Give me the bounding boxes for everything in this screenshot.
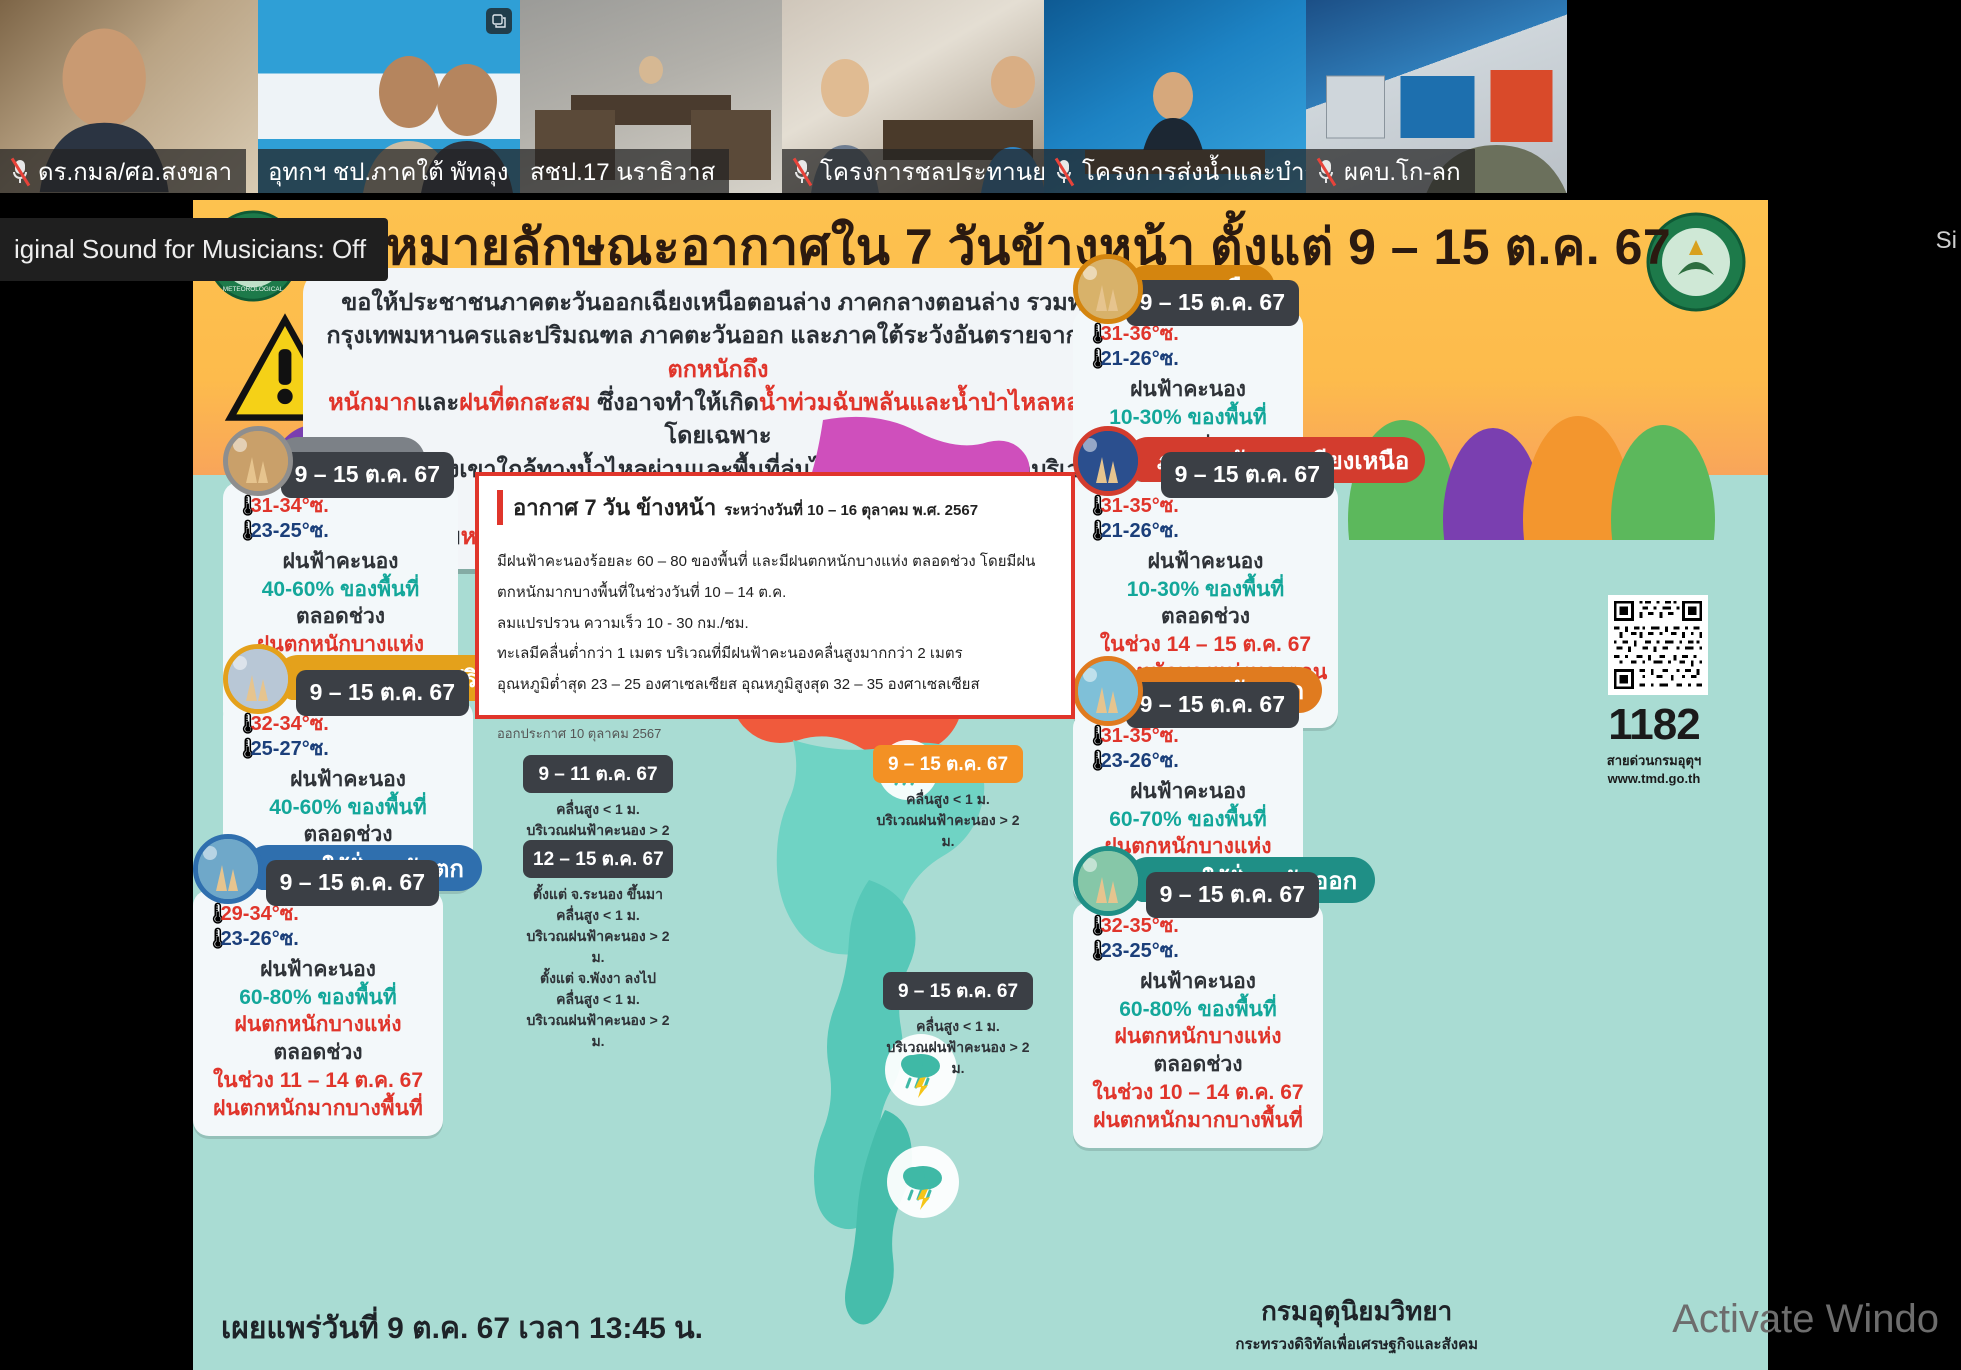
forecast-line-2: ทะเลมีคลื่นต่ำกว่า 1 เมตร บริเวณที่มีฝนฟ… [497, 639, 1053, 670]
thermometer-cold-icon: 🌡 [235, 737, 245, 762]
sea-callout-line-1: บริเวณฝนฟ้าคะนอง > 2 ม. [883, 1037, 1033, 1079]
participant-name: ดร.กมล/ศอ.สงขลา [38, 152, 232, 191]
sea-callout-line-3: ตั้งแต่ จ.พังงา ลงไป [523, 968, 673, 989]
participant-name: ผคบ.โก-ลก [1344, 152, 1461, 191]
region-detail-line-0: ฝนฟ้าคะนอง [233, 766, 463, 794]
sea-callout-date: 9 – 15 ต.ค. 67 [883, 972, 1033, 1010]
sea-callout-line-2: บริเวณฝนฟ้าคะนอง > 2 ม. [523, 926, 673, 968]
region-detail-line-5: ฝนตกหนักมากบางพื้นที่ [203, 1095, 433, 1123]
video-tile-2[interactable]: สชป.17 นราธิวาส [520, 0, 782, 193]
warn-line2: กรุงเทพมหานครและปริมณฑล ภาคตะวันออก และภ… [326, 322, 1079, 348]
original-sound-tooltip: iginal Sound for Musicians: Off [0, 218, 388, 281]
region-detail-line-1: 60-70% ของพื้นที่ [1083, 806, 1293, 834]
forecast-line-3: อุณหภูมิต่ำสุด 23 – 25 องศาเซลเซียส อุณห… [497, 670, 1053, 701]
hotline-url: www.tmd.go.th [1574, 771, 1734, 786]
temp-min: 🌡 21-26°ซ. [1085, 347, 1293, 372]
region-date-range: 9 – 15 ต.ค. 67 [1146, 872, 1319, 918]
region-date-range: 9 – 15 ต.ค. 67 [1161, 452, 1334, 498]
forecast-subtitle: ระหว่างวันที่ 10 – 16 ตุลาคม พ.ศ. 2567 [724, 498, 978, 522]
region-detail-line-1: 60-80% ของพื้นที่ [1083, 996, 1313, 1024]
sea-callout-line-0: ตั้งแต่ จ.ระนอง ขึ้นมา [523, 884, 673, 905]
region-detail-line-4: ในช่วง 11 – 14 ต.ค. 67 [203, 1067, 433, 1095]
thermometer-hot-icon: 🌡 [205, 902, 215, 927]
thermometer-hot-icon: 🌡 [1085, 724, 1095, 749]
region-detail-line-2: ฝนตกหนักบางแห่ง [203, 1011, 433, 1039]
region-detail-line-2: ตลอดช่วง [233, 603, 448, 631]
region-date-range: 9 – 15 ต.ค. 67 [296, 670, 469, 716]
thermometer-hot-icon: 🌡 [1085, 322, 1095, 347]
warn-line3-red1: หนักมาก [328, 389, 417, 415]
temp-min: 🌡 23-26°ซ. [205, 927, 433, 952]
temp-min: 🌡 25-27°ซ. [235, 737, 463, 762]
region-temperatures: 🌡 31-35°ซ.🌡 21-26°ซ. [1083, 494, 1328, 544]
participant-name-label: โครงการชลประทานยะลา [782, 149, 1044, 193]
mic-muted-icon [1316, 158, 1336, 184]
region-temperatures: 🌡 32-35°ซ.🌡 23-25°ซ. [1083, 914, 1313, 964]
participant-name-label: อุทกฯ ชป.ภาคใต้ พัทลุง [258, 149, 520, 193]
mic-muted-icon [1054, 158, 1074, 184]
warn-line3-red2: ฝนที่ตกสะสม [459, 389, 591, 415]
thermometer-hot-icon: 🌡 [1085, 494, 1095, 519]
sea-callout-lines: คลื่นสูง < 1 ม.บริเวณฝนฟ้าคะนอง > 2 ม. [883, 1016, 1033, 1079]
region-detail-lines: ฝนฟ้าคะนอง60-80% ของพื้นที่ฝนตกหนักบางแห… [1083, 968, 1313, 1134]
video-tile-1[interactable]: อุทกฯ ชป.ภาคใต้ พัทลุง [258, 0, 520, 193]
region-photo-icon [193, 834, 263, 904]
thermometer-cold-icon: 🌡 [1085, 749, 1095, 774]
department-footer: กรมอุตุนิยมวิทยา กระทรวงดิจิทัลเพื่อเศรษ… [1235, 1291, 1478, 1356]
region-detail-line-3: ในช่วง 14 – 15 ต.ค. 67 [1083, 631, 1328, 659]
forecast-title: อากาศ 7 วัน ข้างหน้า [513, 490, 716, 525]
hotline-block: 1182 สายด่วนกรมอุตุฯ www.tmd.go.th [1574, 700, 1734, 786]
thermometer-hot-icon: 🌡 [1085, 914, 1095, 939]
region-detail-line-2: ตลอดช่วง [1083, 603, 1328, 631]
region-photo-icon [1073, 254, 1143, 324]
sea-callout-andaman-lower: 12 – 15 ต.ค. 67ตั้งแต่ จ.ระนอง ขึ้นมาคลื… [523, 840, 673, 1052]
region-card-south-east: ภาคใต้ฝั่งตะวันออก9 – 15 ต.ค. 67🌡 32-35°… [1073, 852, 1323, 1148]
temp-min: 🌡 21-26°ซ. [1085, 519, 1328, 544]
shared-screen-stage: iginal Sound for Musicians: Off Si [0, 193, 1961, 1370]
video-tile-5[interactable]: ผคบ.โก-ลก [1306, 0, 1567, 193]
region-temperatures: 🌡 32-34°ซ.🌡 25-27°ซ. [233, 712, 463, 762]
region-detail-line-0: ฝนฟ้าคะนอง [203, 956, 433, 984]
sea-callout-gulf-lower: 9 – 15 ต.ค. 67คลื่นสูง < 1 ม.บริเวณฝนฟ้า… [883, 972, 1033, 1079]
right-edge-label: Si [1936, 227, 1957, 255]
region-detail-line-1: 60-80% ของพื้นที่ [203, 984, 433, 1012]
region-detail-line-1: 10-30% ของพื้นที่ [1083, 576, 1328, 604]
region-photo-icon [223, 426, 293, 496]
forecast-line-1: ลมแปรปรวน ความเร็ว 10 - 30 กม./ชม. [497, 609, 1053, 640]
region-detail-line-1: 40-60% ของพื้นที่ [233, 794, 463, 822]
participant-name: โครงการชลประทานยะลา [820, 152, 1044, 191]
forecast-issued: ออกประกาศ 10 ตุลาคม 2567 [497, 723, 1053, 744]
thermometer-hot-icon: 🌡 [235, 712, 245, 737]
temp-min: 🌡 23-25°ซ. [1085, 939, 1313, 964]
seven-day-forecast-panel: อากาศ 7 วัน ข้างหน้า ระหว่างวันที่ 10 – … [475, 472, 1075, 719]
thermometer-cold-icon: 🌡 [1085, 939, 1095, 964]
temp-min: 🌡 23-26°ซ. [1085, 749, 1293, 774]
sea-callout-lines: ตั้งแต่ จ.ระนอง ขึ้นมาคลื่นสูง < 1 ม.บริ… [523, 884, 673, 1052]
region-detail-lines: ฝนฟ้าคะนอง60-80% ของพื้นที่ฝนตกหนักบางแห… [203, 956, 433, 1122]
region-photo-icon [1073, 846, 1143, 916]
region-detail-line-5: ฝนตกหนักมากบางพื้นที่ [1083, 1107, 1313, 1135]
region-date-range: 9 – 15 ต.ค. 67 [1126, 682, 1299, 728]
thermometer-cold-icon: 🌡 [1085, 347, 1095, 372]
thermometer-cold-icon: 🌡 [235, 519, 245, 544]
region-detail-line-0: ฝนฟ้าคะนอง [1083, 778, 1293, 806]
svg-text:METEOROLOGICAL: METEOROLOGICAL [223, 286, 284, 293]
region-body: 9 – 15 ต.ค. 67🌡 29-34°ซ.🌡 23-26°ซ.ฝนฟ้าค… [193, 890, 443, 1136]
pin-icon[interactable] [486, 8, 512, 34]
sea-callout-line-4: คลื่นสูง < 1 ม. [523, 989, 673, 1010]
weather-forecast-slide: METEOROLOGICAL คาดหมายลักษณะอากาศใน 7 วั… [193, 200, 1768, 1370]
region-photo-icon [1073, 426, 1143, 496]
region-detail-line-0: ฝนฟ้าคะนอง [1083, 548, 1328, 576]
sea-callout-gulf-upper: 9 – 15 ต.ค. 67คลื่นสูง < 1 ม.บริเวณฝนฟ้า… [873, 745, 1023, 852]
region-photo-icon [1073, 656, 1143, 726]
region-body: 9 – 15 ต.ค. 67🌡 32-35°ซ.🌡 23-25°ซ.ฝนฟ้าค… [1073, 902, 1323, 1148]
video-tile-4[interactable]: โครงการส่งน้ำและบำรุงรักษา... [1044, 0, 1306, 193]
sea-callout-date: 9 – 11 ต.ค. 67 [523, 755, 673, 793]
region-temperatures: 🌡 31-36°ซ.🌡 21-26°ซ. [1083, 322, 1293, 372]
region-card-south-west: ภาคใต้ฝั่งตะวันตก9 – 15 ต.ค. 67🌡 29-34°ซ… [193, 840, 443, 1136]
published-timestamp: เผยแพร่วันที่ 9 ต.ค. 67 เวลา 13:45 น. [221, 1305, 703, 1352]
region-temperatures: 🌡 29-34°ซ.🌡 23-26°ซ. [203, 902, 433, 952]
region-date-range: 9 – 15 ต.ค. 67 [1126, 280, 1299, 326]
region-detail-line-0: ฝนฟ้าคะนอง [233, 548, 448, 576]
participant-name: อุทกฯ ชป.ภาคใต้ พัทลุง [268, 152, 509, 191]
thermometer-cold-icon: 🌡 [205, 927, 215, 952]
sea-callout-date: 12 – 15 ต.ค. 67 [523, 840, 673, 878]
ministry-name: กระทรวงดิจิทัลเพื่อเศรษฐกิจและสังคม [1235, 1332, 1478, 1356]
region-detail-line-3: ตลอดช่วง [1083, 1051, 1313, 1079]
sea-callout-lines: คลื่นสูง < 1 ม.บริเวณฝนฟ้าคะนอง > 2 ม. [873, 789, 1023, 852]
video-tile-3[interactable]: โครงการชลประทานยะลา [782, 0, 1044, 193]
participant-name: สชป.17 นราธิวาส [530, 152, 715, 191]
region-temperatures: 🌡 31-35°ซ.🌡 23-26°ซ. [1083, 724, 1293, 774]
department-name: กรมอุตุนิยมวิทยา [1235, 1291, 1478, 1332]
hotline-subtitle: สายด่วนกรมอุตุฯ [1574, 750, 1734, 771]
sea-callout-date: 9 – 15 ต.ค. 67 [873, 745, 1023, 783]
zoom-meeting-screen: ดร.กมล/ศอ.สงขลาอุทกฯ ชป.ภาคใต้ พัทลุงสชป… [0, 0, 1961, 1370]
video-filmstrip: ดร.กมล/ศอ.สงขลาอุทกฯ ชป.ภาคใต้ พัทลุงสชป… [0, 0, 1961, 193]
region-photo-icon [223, 644, 293, 714]
sea-callout-line-0: คลื่นสูง < 1 ม. [523, 799, 673, 820]
video-tile-0[interactable]: ดร.กมล/ศอ.สงขลา [0, 0, 258, 193]
sea-callout-line-0: คลื่นสูง < 1 ม. [883, 1016, 1033, 1037]
warn-line1: ขอให้ประชาชนภาคตะวันออกเฉียงเหนือตอนล่าง… [341, 289, 1095, 315]
region-temperatures: 🌡 31-34°ซ.🌡 23-25°ซ. [233, 494, 448, 544]
region-date-range: 9 – 15 ต.ค. 67 [266, 860, 439, 906]
sea-callout-line-1: บริเวณฝนฟ้าคะนอง > 2 ม. [873, 810, 1023, 852]
region-detail-line-3: ตลอดช่วง [203, 1039, 433, 1067]
forecast-line-0: มีฝนฟ้าคะนองร้อยละ 60 – 80 ของพื้นที่ แล… [497, 547, 1053, 609]
participant-name-label: สชป.17 นราธิวาส [520, 149, 729, 193]
participant-name: โครงการส่งน้ำและบำรุงรักษา... [1082, 152, 1306, 191]
mic-muted-icon [10, 158, 30, 184]
region-detail-line-2: ฝนตกหนักบางแห่ง [1083, 1023, 1313, 1051]
participant-name-label: ดร.กมล/ศอ.สงขลา [0, 149, 246, 193]
mic-muted-icon [792, 158, 812, 184]
temp-min: 🌡 23-25°ซ. [235, 519, 448, 544]
region-date-range: 9 – 15 ต.ค. 67 [281, 452, 454, 498]
thermometer-hot-icon: 🌡 [235, 494, 245, 519]
sea-callout-line-1: คลื่นสูง < 1 ม. [523, 905, 673, 926]
thermometer-cold-icon: 🌡 [1085, 519, 1095, 544]
region-detail-line-0: ฝนฟ้าคะนอง [1083, 968, 1313, 996]
sea-callout-line-5: บริเวณฝนฟ้าคะนอง > 2 ม. [523, 1010, 673, 1052]
hotline-number: 1182 [1574, 700, 1734, 750]
sea-callout-line-0: คลื่นสูง < 1 ม. [873, 789, 1023, 810]
region-detail-line-4: ในช่วง 10 – 14 ต.ค. 67 [1083, 1079, 1313, 1107]
participant-name-label: โครงการส่งน้ำและบำรุงรักษา... [1044, 149, 1306, 193]
warn-line3-a: และ [417, 389, 459, 415]
region-detail-line-1: 40-60% ของพื้นที่ [233, 576, 448, 604]
qr-code [1608, 595, 1708, 695]
region-detail-line-0: ฝนฟ้าคะนอง [1083, 376, 1293, 404]
participant-name-label: ผคบ.โก-ลก [1306, 149, 1475, 193]
forecast-body: มีฝนฟ้าคะนองร้อยละ 60 – 80 ของพื้นที่ แล… [497, 547, 1053, 701]
